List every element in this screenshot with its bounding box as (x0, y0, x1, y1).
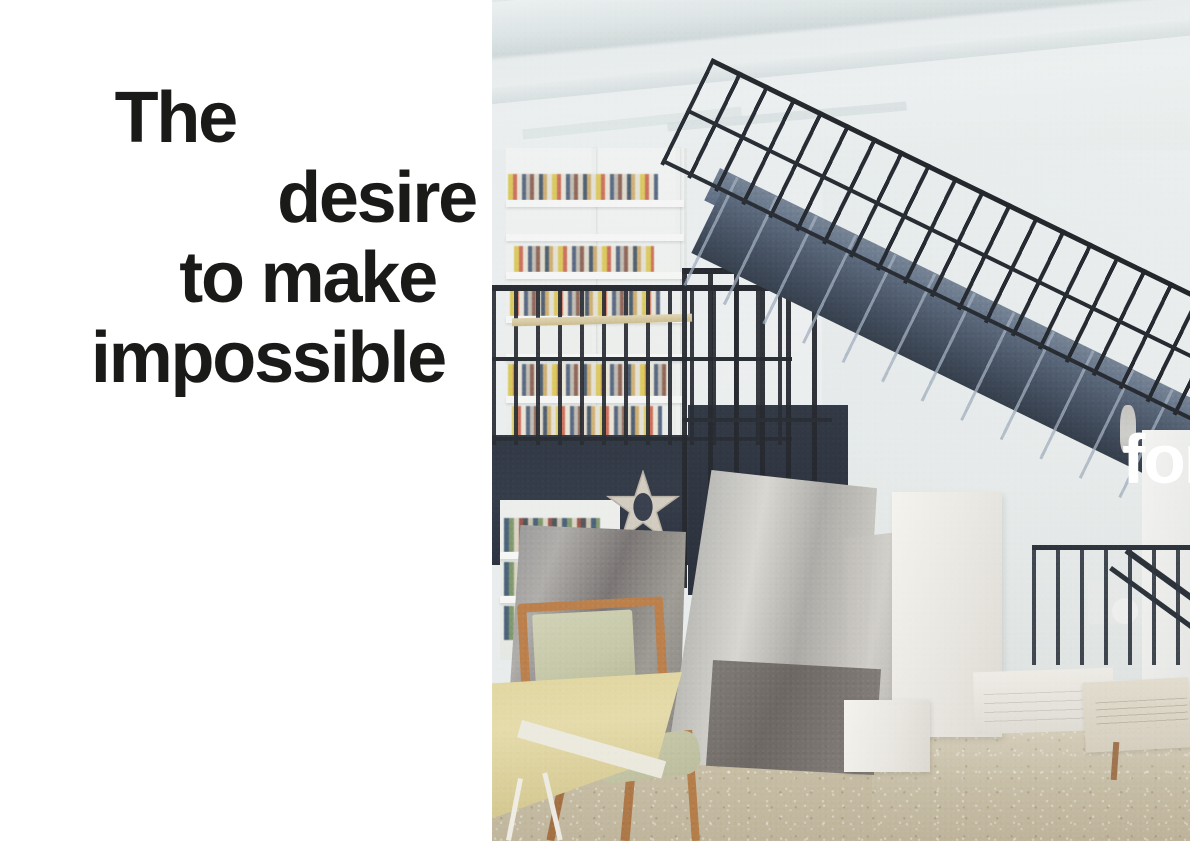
editorial-spread: The desire to make impossible (0, 0, 1190, 841)
headline-line-4: impossible (0, 318, 478, 398)
foam-block-small (844, 700, 930, 772)
right-plinth-texture (1095, 698, 1188, 731)
studio-photograph: forms possible. (492, 0, 1190, 841)
overlay-word-forms: forms (1122, 424, 1190, 494)
headline-panel: The desire to make impossible (0, 0, 492, 841)
photo-scene (492, 0, 1190, 841)
book-row (508, 174, 658, 200)
recess-railing (1032, 545, 1190, 665)
headline-line-1: The (0, 78, 478, 158)
headline-line-3: to make (0, 238, 478, 318)
recess-railing-top (1032, 545, 1190, 550)
headline-line-2: desire (0, 158, 478, 238)
page-title: The desire to make impossible (0, 78, 478, 398)
